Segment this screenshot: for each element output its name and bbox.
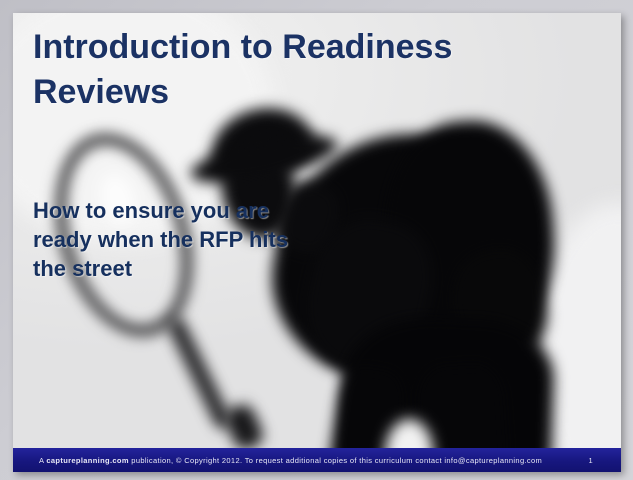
magnifying-glass-handle [166,315,234,430]
presentation-viewport: Introduction to Readiness Reviews How to… [0,0,633,480]
slide-footer-bar: A captureplanning.com publication, © Cop… [13,448,621,472]
copyright-notice: A captureplanning.com publication, © Cop… [39,456,542,465]
slide-canvas[interactable]: Introduction to Readiness Reviews How to… [13,13,621,472]
footer-rest: publication, © Copyright 2012. To reques… [129,456,542,465]
magnifying-glass-handle-grip [221,401,266,453]
slide-page-number: 1 [588,456,593,465]
slide-title: Introduction to Readiness Reviews [33,25,513,115]
footer-brand-link[interactable]: captureplanning.com [46,456,129,465]
slide-subtitle: How to ensure you are ready when the RFP… [33,196,293,283]
